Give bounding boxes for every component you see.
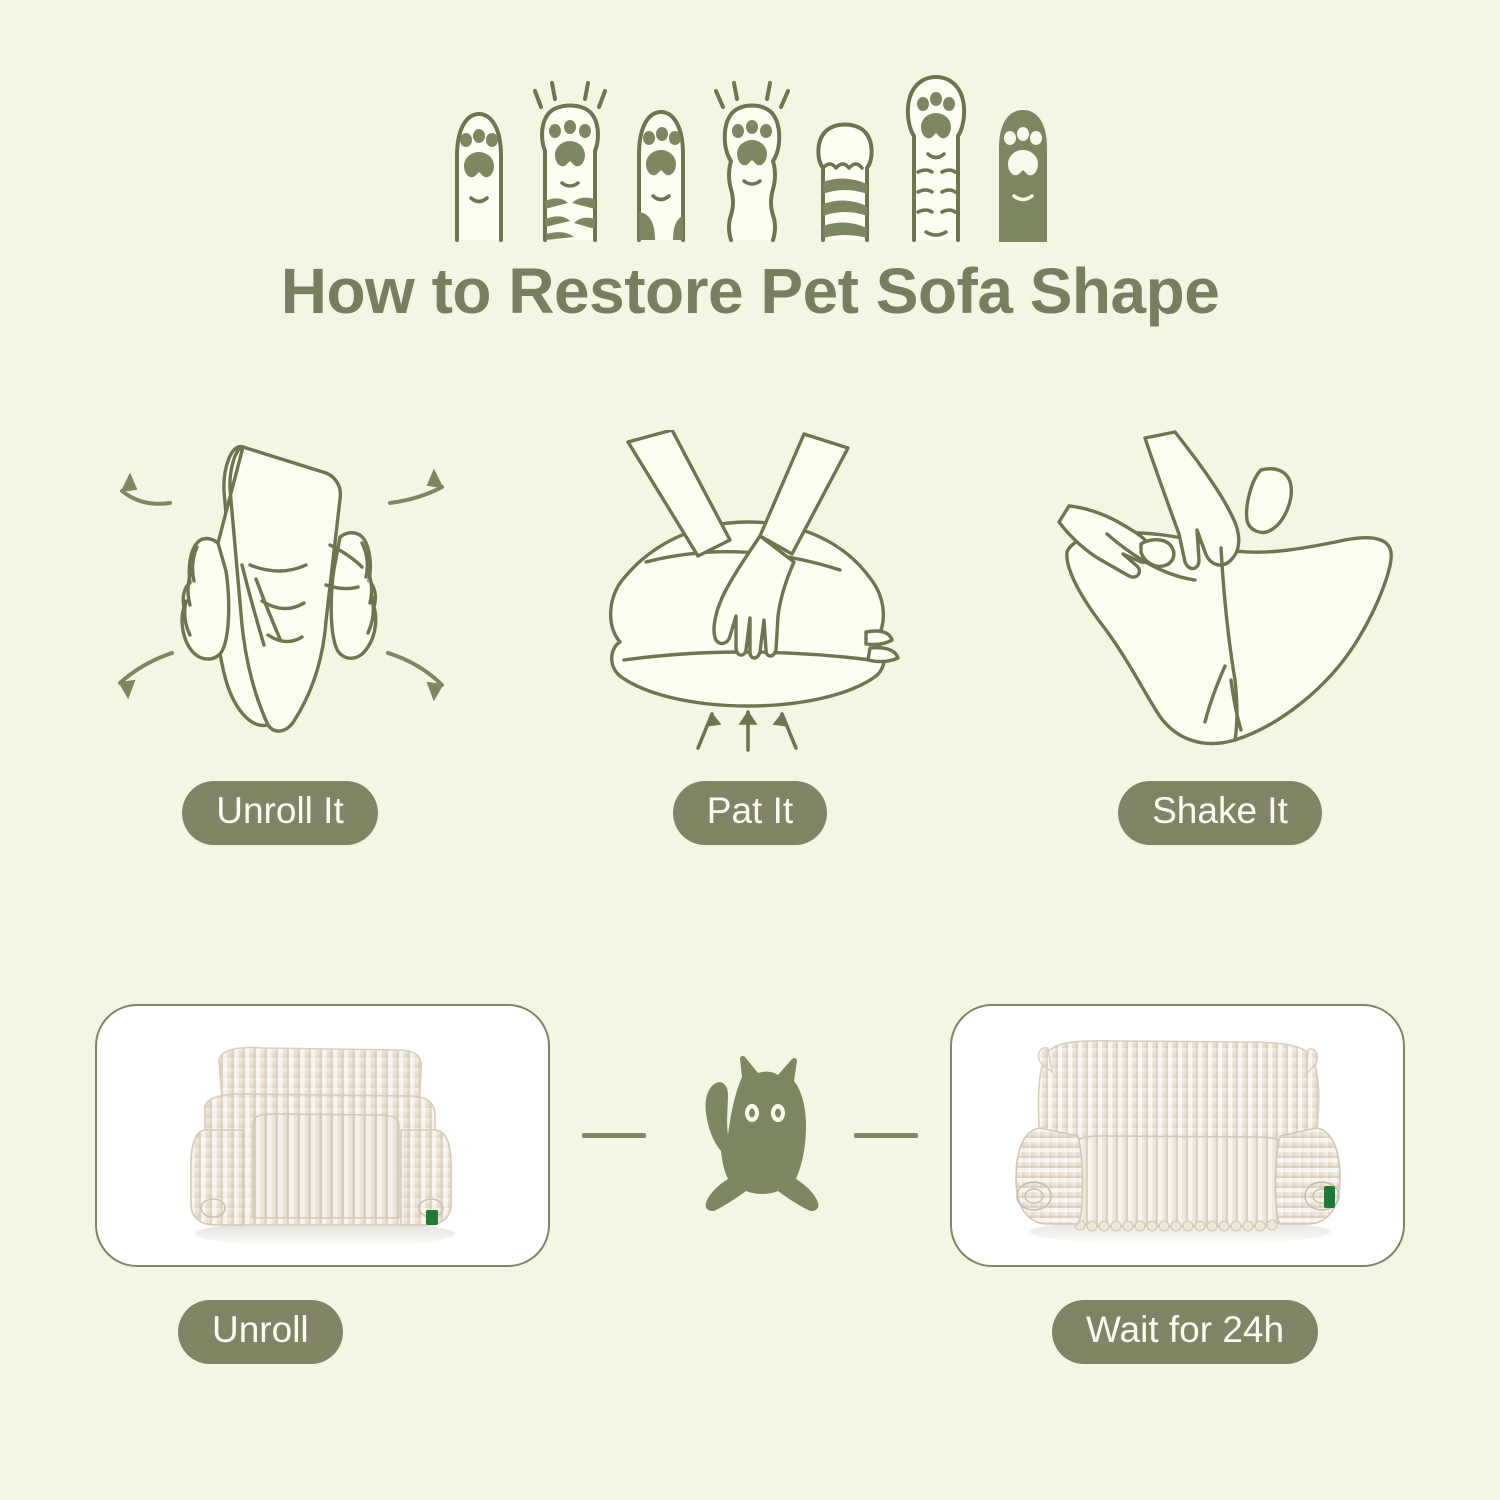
cat-paw-icon-2 (524, 79, 616, 242)
paw-decoration-row (0, 62, 1500, 242)
step-shake: Shake It (1010, 425, 1430, 845)
cat-paw-icon-5 (803, 90, 887, 242)
expanded-pet-sofa-photo (968, 1018, 1388, 1253)
page-title: How to Restore Pet Sofa Shape (0, 256, 1500, 326)
photo-card-after (950, 1004, 1405, 1267)
step-label-shake-it: Shake It (1118, 781, 1322, 845)
cat-paw-icon-4 (706, 77, 798, 242)
hands-shaking-cushion-icon (1045, 430, 1395, 760)
cat-paw-icon-6 (892, 66, 980, 242)
cat-paw-icon-7 (985, 96, 1061, 242)
cat-paw-icon-1 (439, 94, 519, 242)
step-label-pat-it: Pat It (673, 781, 827, 845)
compare-label-unroll: Unroll (178, 1300, 343, 1364)
step-label-unroll-it: Unroll It (182, 781, 377, 845)
brand-tag (1324, 1186, 1335, 1208)
connector-dash-right (854, 1133, 918, 1138)
step-unroll-illustration (90, 425, 470, 765)
before-after-labels: Unroll Wait for 24h (0, 1300, 1500, 1370)
compressed-pet-bed-photo (113, 1018, 533, 1253)
before-after-row (0, 1000, 1500, 1270)
label-wrapper-before: Unroll (178, 1300, 343, 1364)
steps-row: Unroll It (70, 425, 1430, 865)
label-wrapper-after: Wait for 24h (1052, 1300, 1318, 1364)
brand-tag (426, 1210, 438, 1225)
photo-card-before (95, 1004, 550, 1267)
infographic-page: How to Restore Pet Sofa Shape (0, 0, 1500, 1500)
step-pat-illustration (580, 425, 920, 765)
cat-silhouette-icon (680, 1055, 820, 1215)
compare-label-wait-24h: Wait for 24h (1052, 1300, 1318, 1364)
step-shake-illustration (1045, 425, 1395, 765)
hands-stretching-cushion-icon (90, 425, 470, 765)
step-pat: Pat It (540, 425, 960, 845)
cat-paw-icon-3 (621, 94, 701, 242)
hands-patting-cushion-icon (580, 430, 920, 760)
connector-dash-left (582, 1133, 646, 1138)
transition-connector (550, 1055, 950, 1215)
step-unroll: Unroll It (70, 425, 490, 845)
